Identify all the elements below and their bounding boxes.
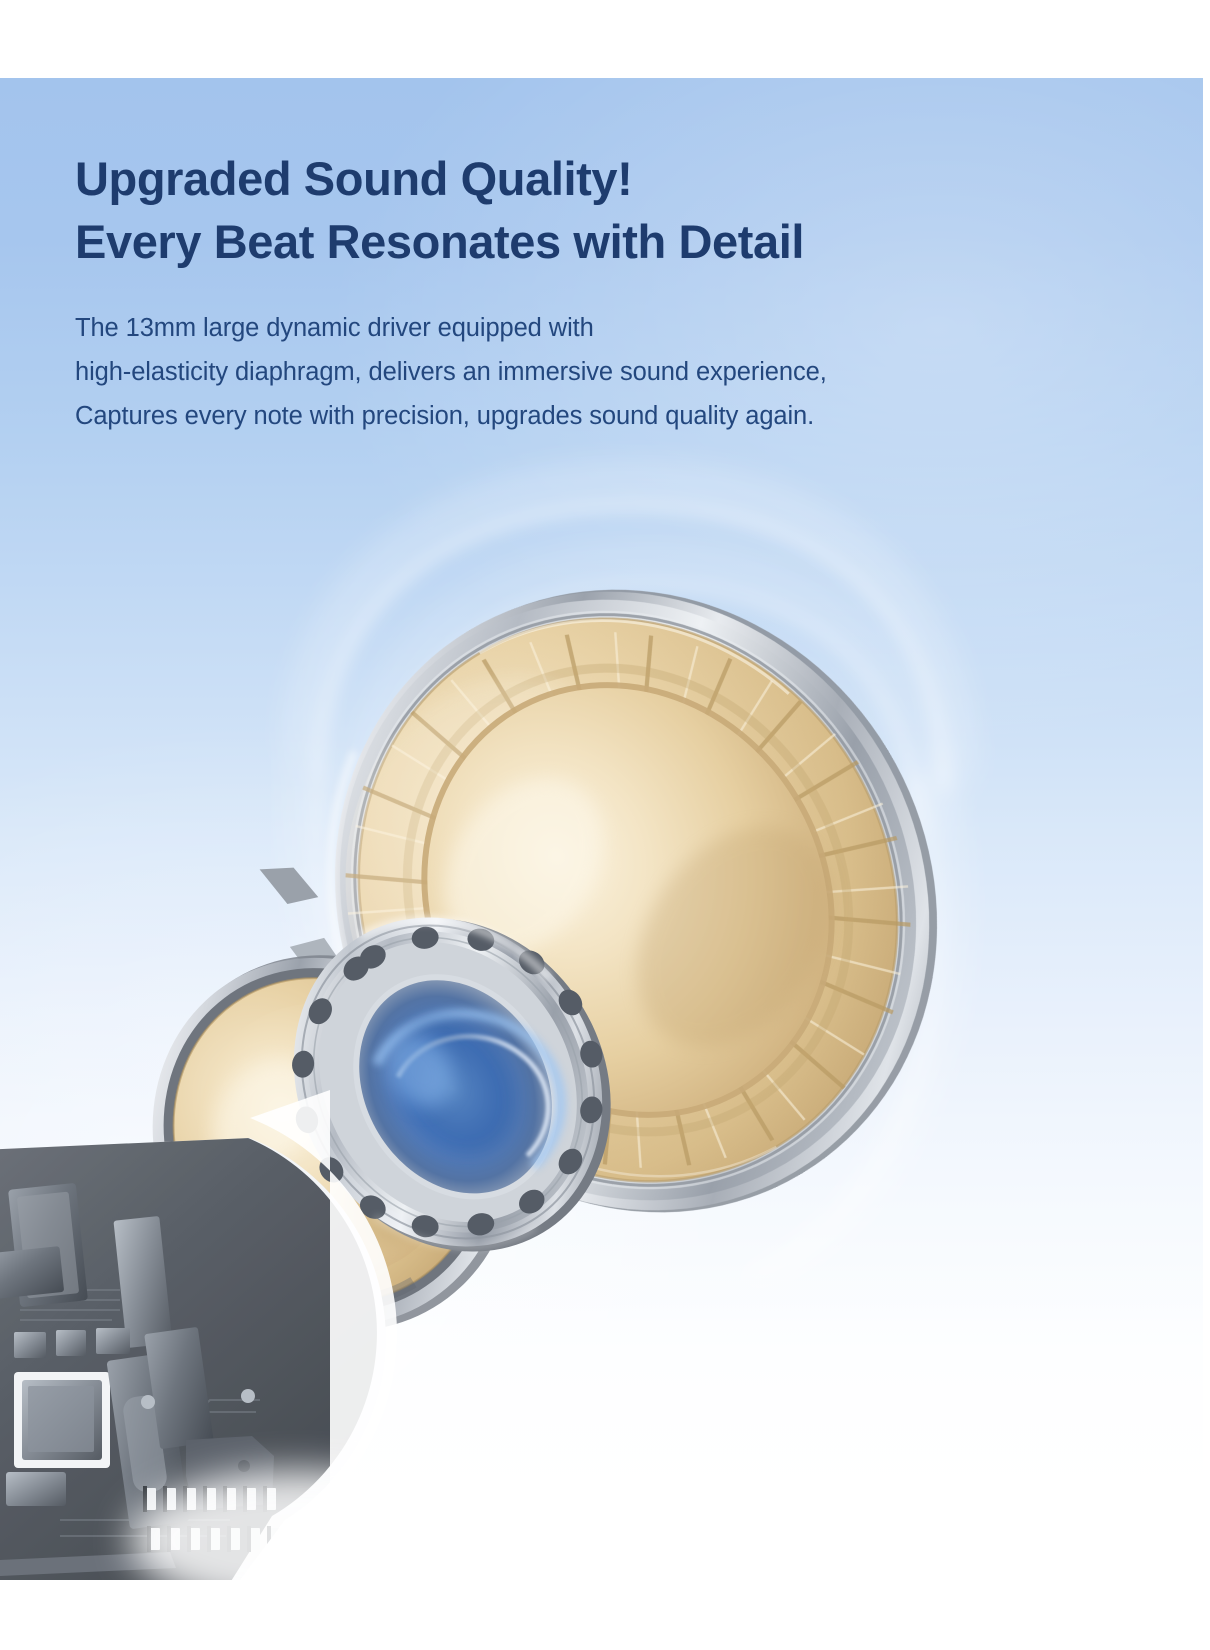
body-line-2: high-elasticity diaphragm, delivers an i…: [75, 351, 1075, 395]
text-block: Upgraded Sound Quality! Every Beat Reson…: [75, 148, 1075, 439]
product-feature-banner: Upgraded Sound Quality! Every Beat Reson…: [0, 0, 1210, 1650]
body-line-3: Captures every note with precision, upgr…: [75, 395, 1075, 439]
body-line-1: The 13mm large dynamic driver equipped w…: [75, 307, 1075, 351]
body-copy: The 13mm large dynamic driver equipped w…: [75, 307, 1075, 439]
headline-line-2: Every Beat Resonates with Detail: [75, 211, 1075, 274]
headline-line-1: Upgraded Sound Quality!: [75, 148, 1075, 211]
